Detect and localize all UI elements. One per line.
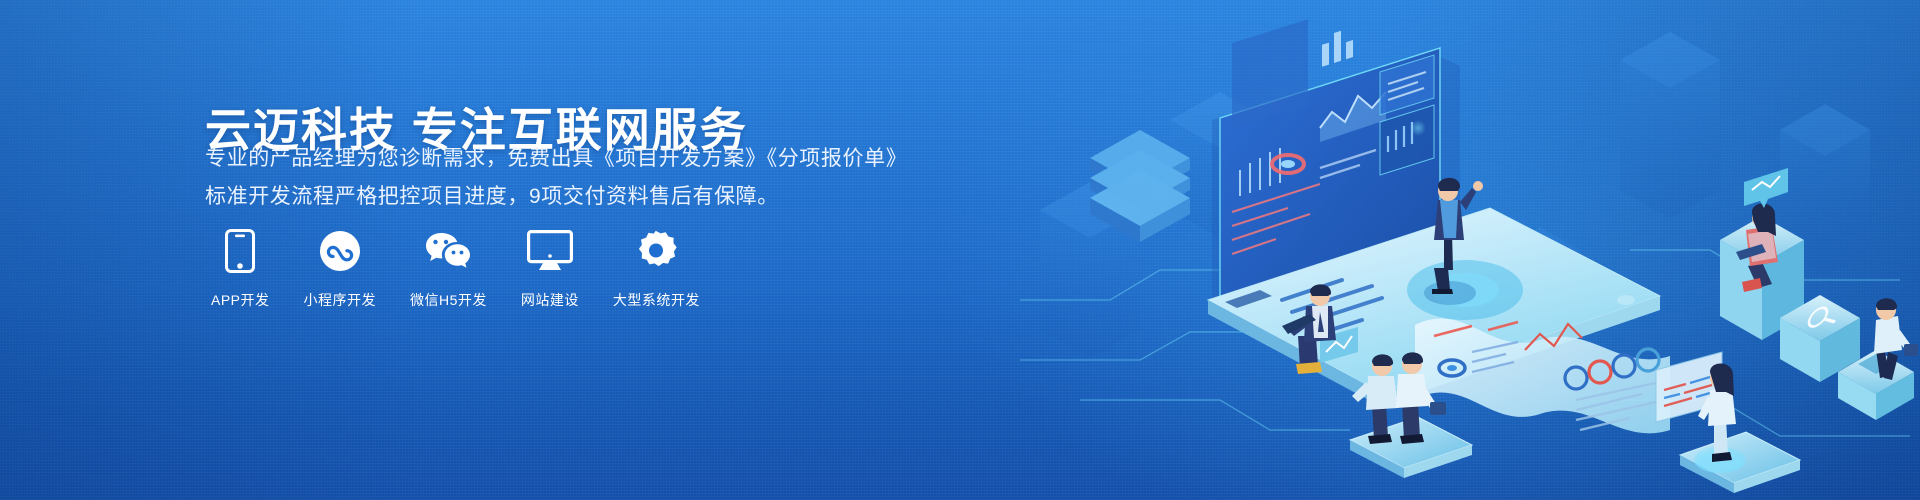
subtitle-line-2: 标准开发流程严格把控项目进度，9项交付资料售后有保障。 xyxy=(205,178,905,216)
service-item-website[interactable]: 网站建设 xyxy=(521,228,579,310)
service-label: 大型系统开发 xyxy=(613,290,700,310)
hero-subtitle: 专业的产品经理为您诊断需求，免费出具《项目开发方案》《分项报价单》 标准开发流程… xyxy=(205,140,905,216)
monitor-icon xyxy=(527,228,573,274)
wechat-icon xyxy=(424,228,472,274)
service-item-mini-program[interactable]: 小程序开发 xyxy=(304,228,377,310)
service-item-large-system[interactable]: 大型系统开发 xyxy=(613,228,700,310)
hero-banner: 云迈科技 专注互联网服务 专业的产品经理为您诊断需求，免费出具《项目开发方案》《… xyxy=(0,0,1920,500)
service-label: 小程序开发 xyxy=(304,290,377,310)
service-item-app[interactable]: APP开发 xyxy=(211,228,270,310)
mini-program-icon xyxy=(319,228,361,274)
service-list: APP开发 小程序开发 xyxy=(211,228,700,310)
service-label: 网站建设 xyxy=(521,290,579,310)
gear-icon xyxy=(634,228,678,274)
service-item-wechat-h5[interactable]: 微信H5开发 xyxy=(410,228,487,310)
hero-content: 云迈科技 专注互联网服务 专业的产品经理为您诊断需求，免费出具《项目开发方案》《… xyxy=(205,0,965,500)
mobile-phone-icon xyxy=(225,228,255,274)
subtitle-line-1: 专业的产品经理为您诊断需求，免费出具《项目开发方案》《分项报价单》 xyxy=(205,140,905,178)
service-label: 微信H5开发 xyxy=(410,290,487,310)
service-label: APP开发 xyxy=(211,290,270,310)
hero-illustration xyxy=(1020,0,1920,500)
